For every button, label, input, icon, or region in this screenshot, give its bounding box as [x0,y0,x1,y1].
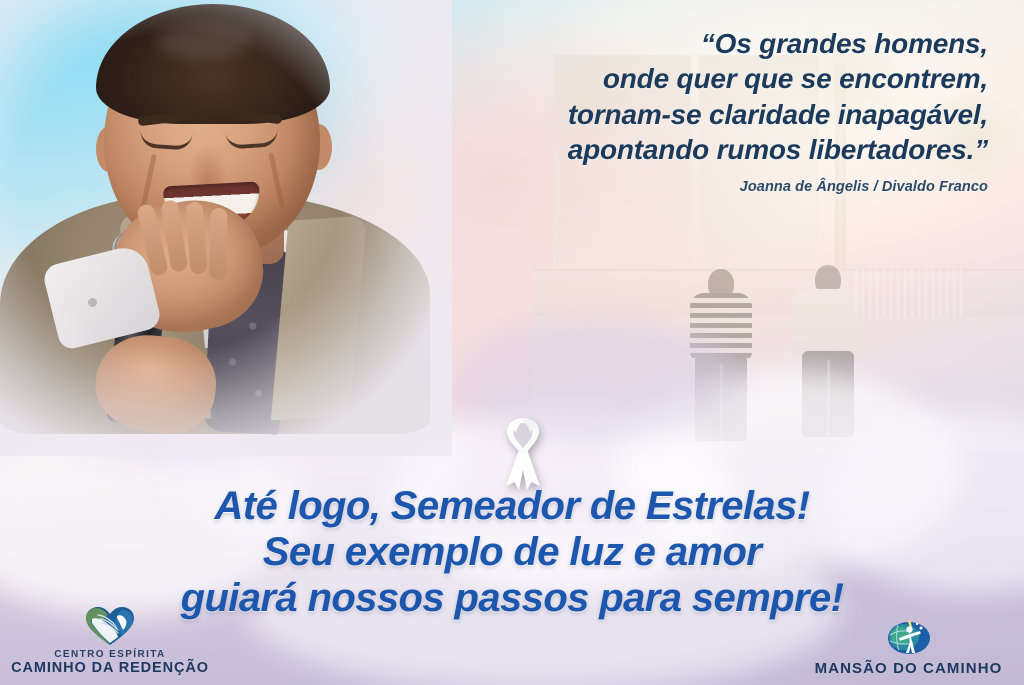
tribute-poster: “Os grandes homens, onde quer que se enc… [0,0,1024,685]
globe-figure-icon [884,615,934,657]
headline-line-1: Até logo, Semeador de Estrelas! [0,486,1024,526]
logo-mansao-do-caminho: MANSÃO DO CAMINHO [801,615,1016,677]
quote-line-2: onde quer que se encontrem, [428,61,988,96]
logo-centro-espirita: CENTRO ESPÍRITA CAMINHO DA REDENÇÃO [10,606,210,677]
portrait-cuff-button [88,298,97,307]
quote-line-4: apontando rumos libertadores.” [428,132,988,167]
quote-line-1: “Os grandes homens, [428,26,988,61]
quote-attribution: Joanna de Ângelis / Divaldo Franco [428,179,988,195]
logo-left-line-2: CAMINHO DA REDENÇÃO [10,660,210,677]
white-mourning-ribbon-icon [492,412,554,490]
quote-block: “Os grandes homens, onde quer que se enc… [428,26,988,195]
divaldo-franco-portrait [0,0,422,426]
portrait-hair [96,4,330,124]
logo-right-line-2: MANSÃO DO CAMINHO [801,660,1016,677]
headline-block: Até logo, Semeador de Estrelas! Seu exem… [0,486,1024,618]
portrait-finger [209,208,227,280]
headline-line-2: Seu exemplo de luz e amor [0,532,1024,572]
logo-left-line-1: CENTRO ESPÍRITA [10,649,210,660]
quote-line-3: tornam-se claridade inapagável, [428,97,988,132]
heart-hands-icon [84,606,136,646]
